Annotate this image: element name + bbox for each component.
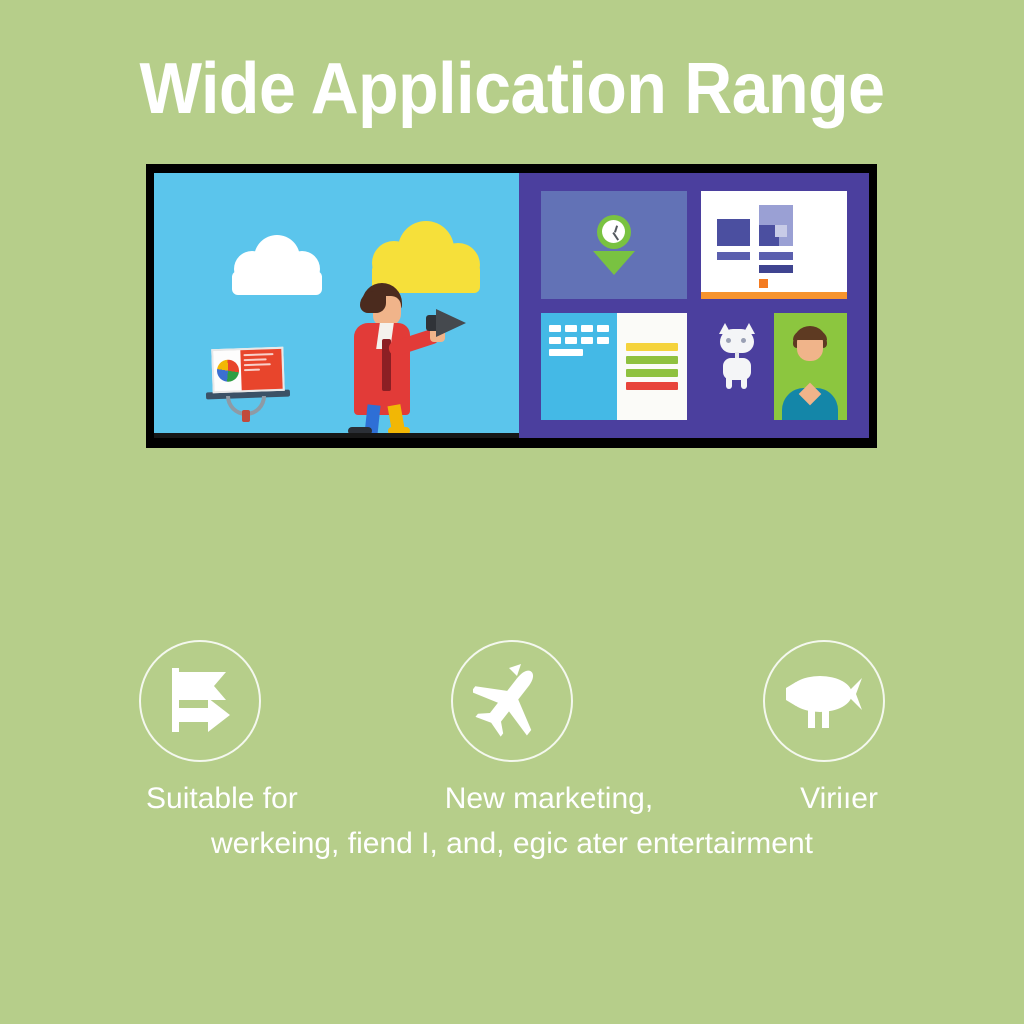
megaphone-icon bbox=[436, 309, 466, 337]
caption-segment-suitable: Suitable for bbox=[146, 776, 298, 821]
outdoor-sky-scene bbox=[154, 173, 519, 438]
caption-line-1: Suitable for New marketing, Viriıer bbox=[110, 776, 914, 821]
clock-icon bbox=[597, 215, 631, 249]
keyboard-icon bbox=[541, 313, 617, 421]
caption-block: Suitable for New marketing, Viriıer werk… bbox=[110, 776, 914, 866]
feature-icon-row bbox=[120, 640, 904, 762]
application-tile-board bbox=[519, 173, 869, 438]
laptop-on-stand bbox=[206, 348, 288, 414]
timer-download-tile[interactable] bbox=[541, 191, 687, 299]
person-portrait bbox=[774, 313, 847, 421]
feature-flag-circle bbox=[139, 640, 261, 762]
caption-line-2: werkeing, fiend I, and, egic ater entert… bbox=[110, 821, 914, 866]
hero-screen-frame bbox=[146, 164, 877, 448]
pie-chart-icon bbox=[216, 359, 239, 382]
ground-strip bbox=[154, 433, 519, 438]
feature-flag[interactable] bbox=[120, 640, 280, 762]
robot-portrait-tile[interactable] bbox=[701, 313, 847, 421]
airplane-icon bbox=[473, 662, 551, 740]
feature-blimp[interactable] bbox=[744, 640, 904, 762]
feature-airplane-circle bbox=[451, 640, 573, 762]
flag-arrow-icon bbox=[164, 664, 236, 738]
feature-airplane[interactable] bbox=[432, 640, 592, 762]
white-cloud-icon bbox=[232, 243, 322, 295]
download-arrow-icon bbox=[593, 251, 635, 275]
presentation-document-tile[interactable] bbox=[701, 191, 847, 299]
bar-chart-icon bbox=[617, 313, 687, 421]
caption-segment-marketing: New marketing, bbox=[445, 776, 653, 821]
blimp-icon bbox=[784, 670, 864, 732]
feature-blimp-circle bbox=[763, 640, 885, 762]
hero-screen-inner bbox=[154, 173, 869, 438]
page-title: Wide Application Range bbox=[41, 52, 983, 128]
robot-icon bbox=[701, 313, 774, 421]
caption-segment-viriier: Viriıer bbox=[800, 776, 878, 821]
person-with-megaphone bbox=[340, 283, 458, 433]
keyboard-analytics-tile[interactable] bbox=[541, 313, 687, 421]
